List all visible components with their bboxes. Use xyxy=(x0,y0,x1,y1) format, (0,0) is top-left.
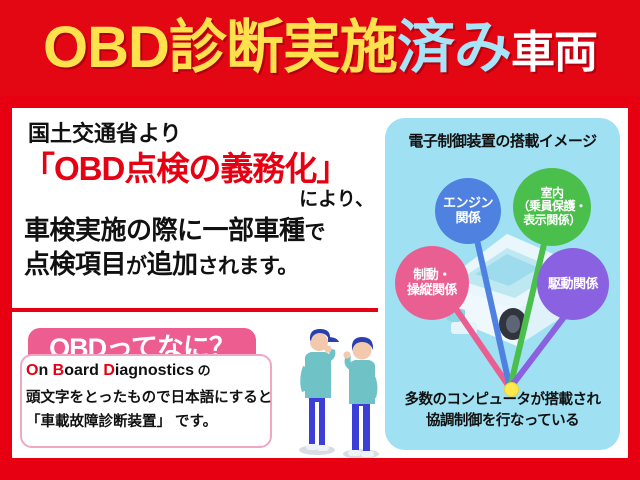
obd-answer-line-3: 「車載故障診断装置」 です。 xyxy=(26,410,217,431)
mechanic-right xyxy=(343,337,377,457)
section-divider xyxy=(12,308,378,312)
node-drive-label-1: 駆動関係 xyxy=(548,277,598,292)
mechanic-left xyxy=(300,329,339,451)
content-card: 国土交通省より 「OBD点検の義務化」 により、 車検実施の際に一部車種で 点検… xyxy=(12,108,628,458)
node-room-label-2: （乗員保護・ xyxy=(517,199,586,213)
poster-root: OBD診断実施済み車両 国土交通省より 「OBD点検の義務化」 により、 車検実… xyxy=(0,0,640,480)
notice-line-4-main: 車検実施の際に一部車種 xyxy=(24,215,305,245)
answer-word-oard: oard xyxy=(64,362,103,379)
answer-word-n: n xyxy=(38,362,52,379)
answer-initial-o: O xyxy=(26,362,38,379)
node-drive: 駆動関係 xyxy=(537,248,609,320)
ecu-diagram-panel: 電子制御装置の搭載イメージ xyxy=(385,118,620,450)
diagram-footer-line-2: 協調制御を行なっている xyxy=(426,413,579,429)
notice-line-5-mid: が xyxy=(126,255,147,278)
header-title-part2: 済み xyxy=(397,15,511,80)
notice-line-5-tail: されます。 xyxy=(198,255,298,278)
notice-line-5-main2: 追加 xyxy=(147,249,198,279)
notice-headline: 「OBD点検の義務化」 xyxy=(22,142,348,190)
node-engine-label-2: 関係 xyxy=(455,210,480,225)
node-room: 室内（乗員保護・表示関係） xyxy=(513,168,591,246)
node-brake-label-1: 制動・ xyxy=(413,267,451,282)
notice-line-5: 点検項目が追加されます。 xyxy=(24,244,298,281)
obd-answer-line-2: 頭文字をとったもので日本語にすると xyxy=(26,386,272,407)
node-room-label-3: 表示関係） xyxy=(523,213,581,227)
mechanics-illustration xyxy=(287,318,392,458)
header-title: OBD診断実施済み車両 xyxy=(0,18,640,83)
obd-answer-line-1: On Board Diagnostics の xyxy=(26,360,211,380)
notice-line-4: 車検実施の際に一部車種で xyxy=(24,210,325,247)
node-brake: 制動・操縦関係 xyxy=(395,246,469,320)
diagram-footer-line-1: 多数のコンピュータが搭載され xyxy=(405,392,601,408)
answer-word-iagnostics: iagnostics xyxy=(115,362,194,379)
answer-initial-b: B xyxy=(53,362,65,379)
answer-initial-d: D xyxy=(103,362,115,379)
header-banner: OBD診断実施済み車両 xyxy=(0,0,640,96)
answer-particle-no: の xyxy=(194,363,211,378)
notice-line-5-main: 点検項目 xyxy=(24,249,126,279)
notice-line-4-tail: で xyxy=(305,221,326,244)
node-engine: エンジン関係 xyxy=(435,178,501,244)
header-title-part1: OBD診断実施 xyxy=(43,15,397,80)
node-brake-label-2: 操縦関係 xyxy=(407,282,457,297)
header-title-part3: 車両 xyxy=(511,28,597,77)
notice-line-3: により、 xyxy=(299,184,374,211)
node-room-label-1: 室内 xyxy=(540,186,563,200)
diagram-footer: 多数のコンピュータが搭載され 協調制御を行なっている xyxy=(385,390,620,432)
notice-text-block: 国土交通省より 「OBD点検の義務化」 により、 車検実施の際に一部車種で 点検… xyxy=(18,112,382,302)
node-engine-label-1: エンジン xyxy=(443,195,493,210)
